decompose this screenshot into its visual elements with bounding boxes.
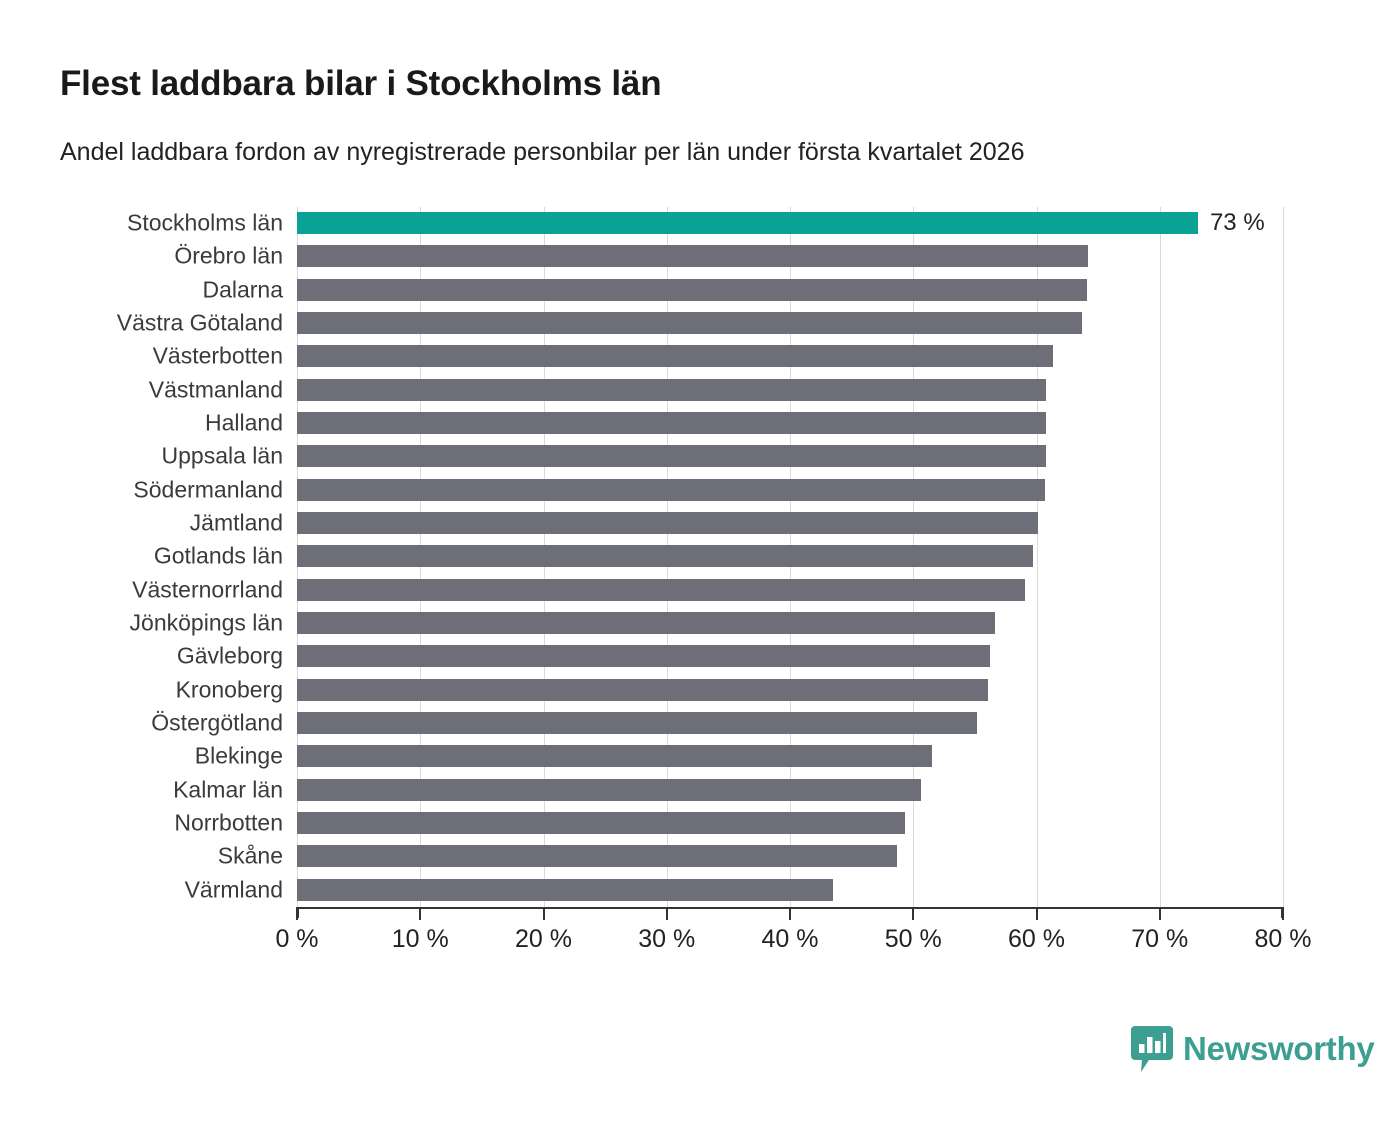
bar-row: Norrbotten [0, 807, 1400, 839]
bar[interactable] [297, 812, 905, 834]
bar-row: Stockholms län73 % [0, 207, 1400, 239]
x-tick-label: 40 % [762, 925, 819, 954]
bar[interactable] [297, 512, 1038, 534]
x-tick-60 [1036, 907, 1038, 920]
category-label: Uppsala län [162, 443, 283, 470]
bar[interactable] [297, 345, 1053, 367]
category-label: Jönköpings län [130, 610, 283, 637]
category-label: Kalmar län [173, 776, 283, 803]
bar-row: Västra Götaland [0, 307, 1400, 339]
x-tick-label: 10 % [392, 925, 449, 954]
bar-chart: Stockholms län73 %Örebro länDalarnaVästr… [0, 0, 1400, 1000]
bar-row: Gotlands län [0, 540, 1400, 572]
bar-row: Blekinge [0, 740, 1400, 772]
bar-value-label: 73 % [1210, 209, 1265, 237]
bar[interactable] [297, 245, 1088, 267]
category-label: Jämtland [190, 510, 283, 537]
category-label: Gävleborg [177, 643, 283, 670]
bar-row: Örebro län [0, 240, 1400, 272]
x-tick-40 [789, 907, 791, 920]
bar[interactable] [297, 679, 988, 701]
bar-row: Dalarna [0, 274, 1400, 306]
category-label: Södermanland [133, 476, 283, 503]
category-label: Stockholms län [127, 210, 283, 237]
bar-row: Värmland [0, 874, 1400, 906]
category-label: Dalarna [202, 276, 283, 303]
bar[interactable] [297, 779, 921, 801]
bar[interactable] [297, 712, 977, 734]
category-label: Västerbotten [153, 343, 283, 370]
category-label: Östergötland [151, 710, 283, 737]
x-tick-label: 50 % [885, 925, 942, 954]
x-tick-label: 30 % [638, 925, 695, 954]
bar[interactable] [297, 645, 990, 667]
bar[interactable] [297, 845, 897, 867]
axis-cap [297, 907, 299, 918]
bar[interactable] [297, 545, 1033, 567]
bar-chart-speech-bubble-icon [1131, 1026, 1173, 1072]
x-tick-label: 60 % [1008, 925, 1065, 954]
category-label: Blekinge [195, 743, 283, 770]
bar-row: Gävleborg [0, 640, 1400, 672]
category-label: Halland [205, 410, 283, 437]
bar-row: Jönköpings län [0, 607, 1400, 639]
bar[interactable] [297, 479, 1045, 501]
bar[interactable] [297, 279, 1087, 301]
x-tick-label: 70 % [1131, 925, 1188, 954]
bar[interactable] [297, 445, 1046, 467]
category-label: Gotlands län [154, 543, 283, 570]
bar-row: Östergötland [0, 707, 1400, 739]
bar-row: Västernorrland [0, 574, 1400, 606]
category-label: Värmland [185, 876, 283, 903]
bar[interactable] [297, 212, 1198, 234]
x-tick-label: 0 % [275, 925, 318, 954]
bar[interactable] [297, 412, 1046, 434]
bar-row: Uppsala län [0, 440, 1400, 472]
bar-row: Västmanland [0, 374, 1400, 406]
x-tick-70 [1159, 907, 1161, 920]
category-label: Västernorrland [132, 576, 283, 603]
x-tick-50 [912, 907, 914, 920]
chart-page: Flest laddbara bilar i Stockholms län An… [0, 0, 1400, 1133]
bar[interactable] [297, 745, 932, 767]
newsworthy-logo: Newsworthy [1131, 1026, 1374, 1072]
logo-wordmark: Newsworthy [1183, 1030, 1374, 1068]
category-label: Kronoberg [176, 676, 283, 703]
bar[interactable] [297, 379, 1046, 401]
category-label: Västmanland [149, 376, 283, 403]
bar-row: Södermanland [0, 474, 1400, 506]
bar-row: Halland [0, 407, 1400, 439]
axis-cap [1281, 907, 1283, 918]
category-label: Örebro län [174, 243, 283, 270]
bar-row: Jämtland [0, 507, 1400, 539]
category-label: Västra Götaland [117, 310, 283, 337]
bar[interactable] [297, 579, 1025, 601]
x-tick-30 [666, 907, 668, 920]
bar[interactable] [297, 612, 995, 634]
category-label: Skåne [218, 843, 283, 870]
bar-row: Kronoberg [0, 674, 1400, 706]
x-tick-20 [543, 907, 545, 920]
bar-row: Västerbotten [0, 340, 1400, 372]
x-tick-label: 20 % [515, 925, 572, 954]
x-tick-label: 80 % [1255, 925, 1312, 954]
category-label: Norrbotten [174, 810, 283, 837]
bar-row: Skåne [0, 840, 1400, 872]
bar[interactable] [297, 312, 1082, 334]
bar-row: Kalmar län [0, 774, 1400, 806]
x-tick-10 [419, 907, 421, 920]
bar[interactable] [297, 879, 833, 901]
